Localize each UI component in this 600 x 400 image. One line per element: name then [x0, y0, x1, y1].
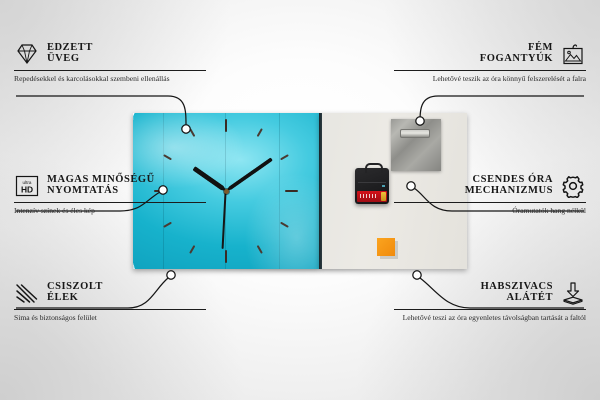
callout-title-line: NYOMTATÁS [47, 186, 155, 197]
foam-press-icon [560, 281, 586, 305]
metal-hanger-plate [391, 119, 441, 171]
panel-edge-seam [319, 113, 322, 269]
callout-description: Repedésekkel és karcolásokkal szembeni e… [14, 74, 206, 85]
foam-spacer-pad [377, 238, 395, 256]
callout-mechanism[interactable]: CSENDES ÓRA MECHANIZMUS Óramutatók hang … [394, 174, 586, 217]
callout-handle[interactable]: FÉM FOGANTYÚK Lehetővé teszik az óra kön… [394, 42, 586, 85]
mechanism-hanger-loop [365, 163, 383, 173]
callout-title-line: ÜVEG [47, 54, 93, 65]
callout-print[interactable]: ultra HD MAGAS MINŐSÉGŰ NYOMTATÁS Intenz… [14, 174, 206, 217]
aa-battery [357, 191, 387, 202]
mechanism-marker [382, 185, 385, 187]
ultra-hd-icon: ultra HD [14, 174, 40, 198]
callout-description: Lehetővé teszik az óra könnyű felszerelé… [394, 74, 586, 85]
callout-divider [14, 70, 206, 71]
clock-center-cap [224, 189, 229, 194]
diamond-icon [14, 42, 40, 66]
callout-description: Sima és biztonságos felület [14, 313, 206, 324]
callout-title-line: ALÁTÉT [481, 293, 553, 304]
gear-icon [560, 174, 586, 198]
beveled-edges-icon [14, 281, 40, 305]
callout-divider [394, 70, 586, 71]
infographic-canvas: EDZETT ÜVEG Repedésekkel és karcolásokka… [0, 0, 600, 400]
callout-divider [14, 202, 206, 203]
picture-frame-hook-icon [560, 42, 586, 66]
hanger-slot [400, 129, 430, 138]
callout-divider [14, 309, 206, 310]
battery-label [360, 194, 378, 198]
callout-description: Lehetővé teszi az óra egyenletes távolsá… [394, 313, 586, 324]
svg-text:HD: HD [21, 185, 33, 195]
callout-glass[interactable]: EDZETT ÜVEG Repedésekkel és karcolásokka… [14, 42, 206, 85]
clock-minute-hand [225, 157, 273, 192]
battery-cap [381, 192, 386, 201]
callout-edges[interactable]: CSISZOLT ÉLEK Sima és biztonságos felüle… [14, 281, 206, 324]
callout-title-line: FOGANTYÚK [480, 54, 553, 65]
callout-title-line: MECHANIZMUS [465, 186, 553, 197]
callout-foam[interactable]: HABSZIVACS ALÁTÉT Lehetővé teszi az óra … [394, 281, 586, 324]
clock-tick [225, 128, 263, 191]
clock-tick [225, 119, 227, 191]
clock-tick [226, 190, 298, 192]
quartz-clock-mechanism [355, 168, 389, 204]
callout-divider [394, 202, 586, 203]
mechanism-seam [358, 182, 386, 183]
callout-title-line: ÉLEK [47, 293, 103, 304]
callout-divider [394, 309, 586, 310]
callout-description: Óramutatók hang nélkül [394, 206, 586, 217]
callout-description: Intenzív színek és éles kép [14, 206, 206, 217]
